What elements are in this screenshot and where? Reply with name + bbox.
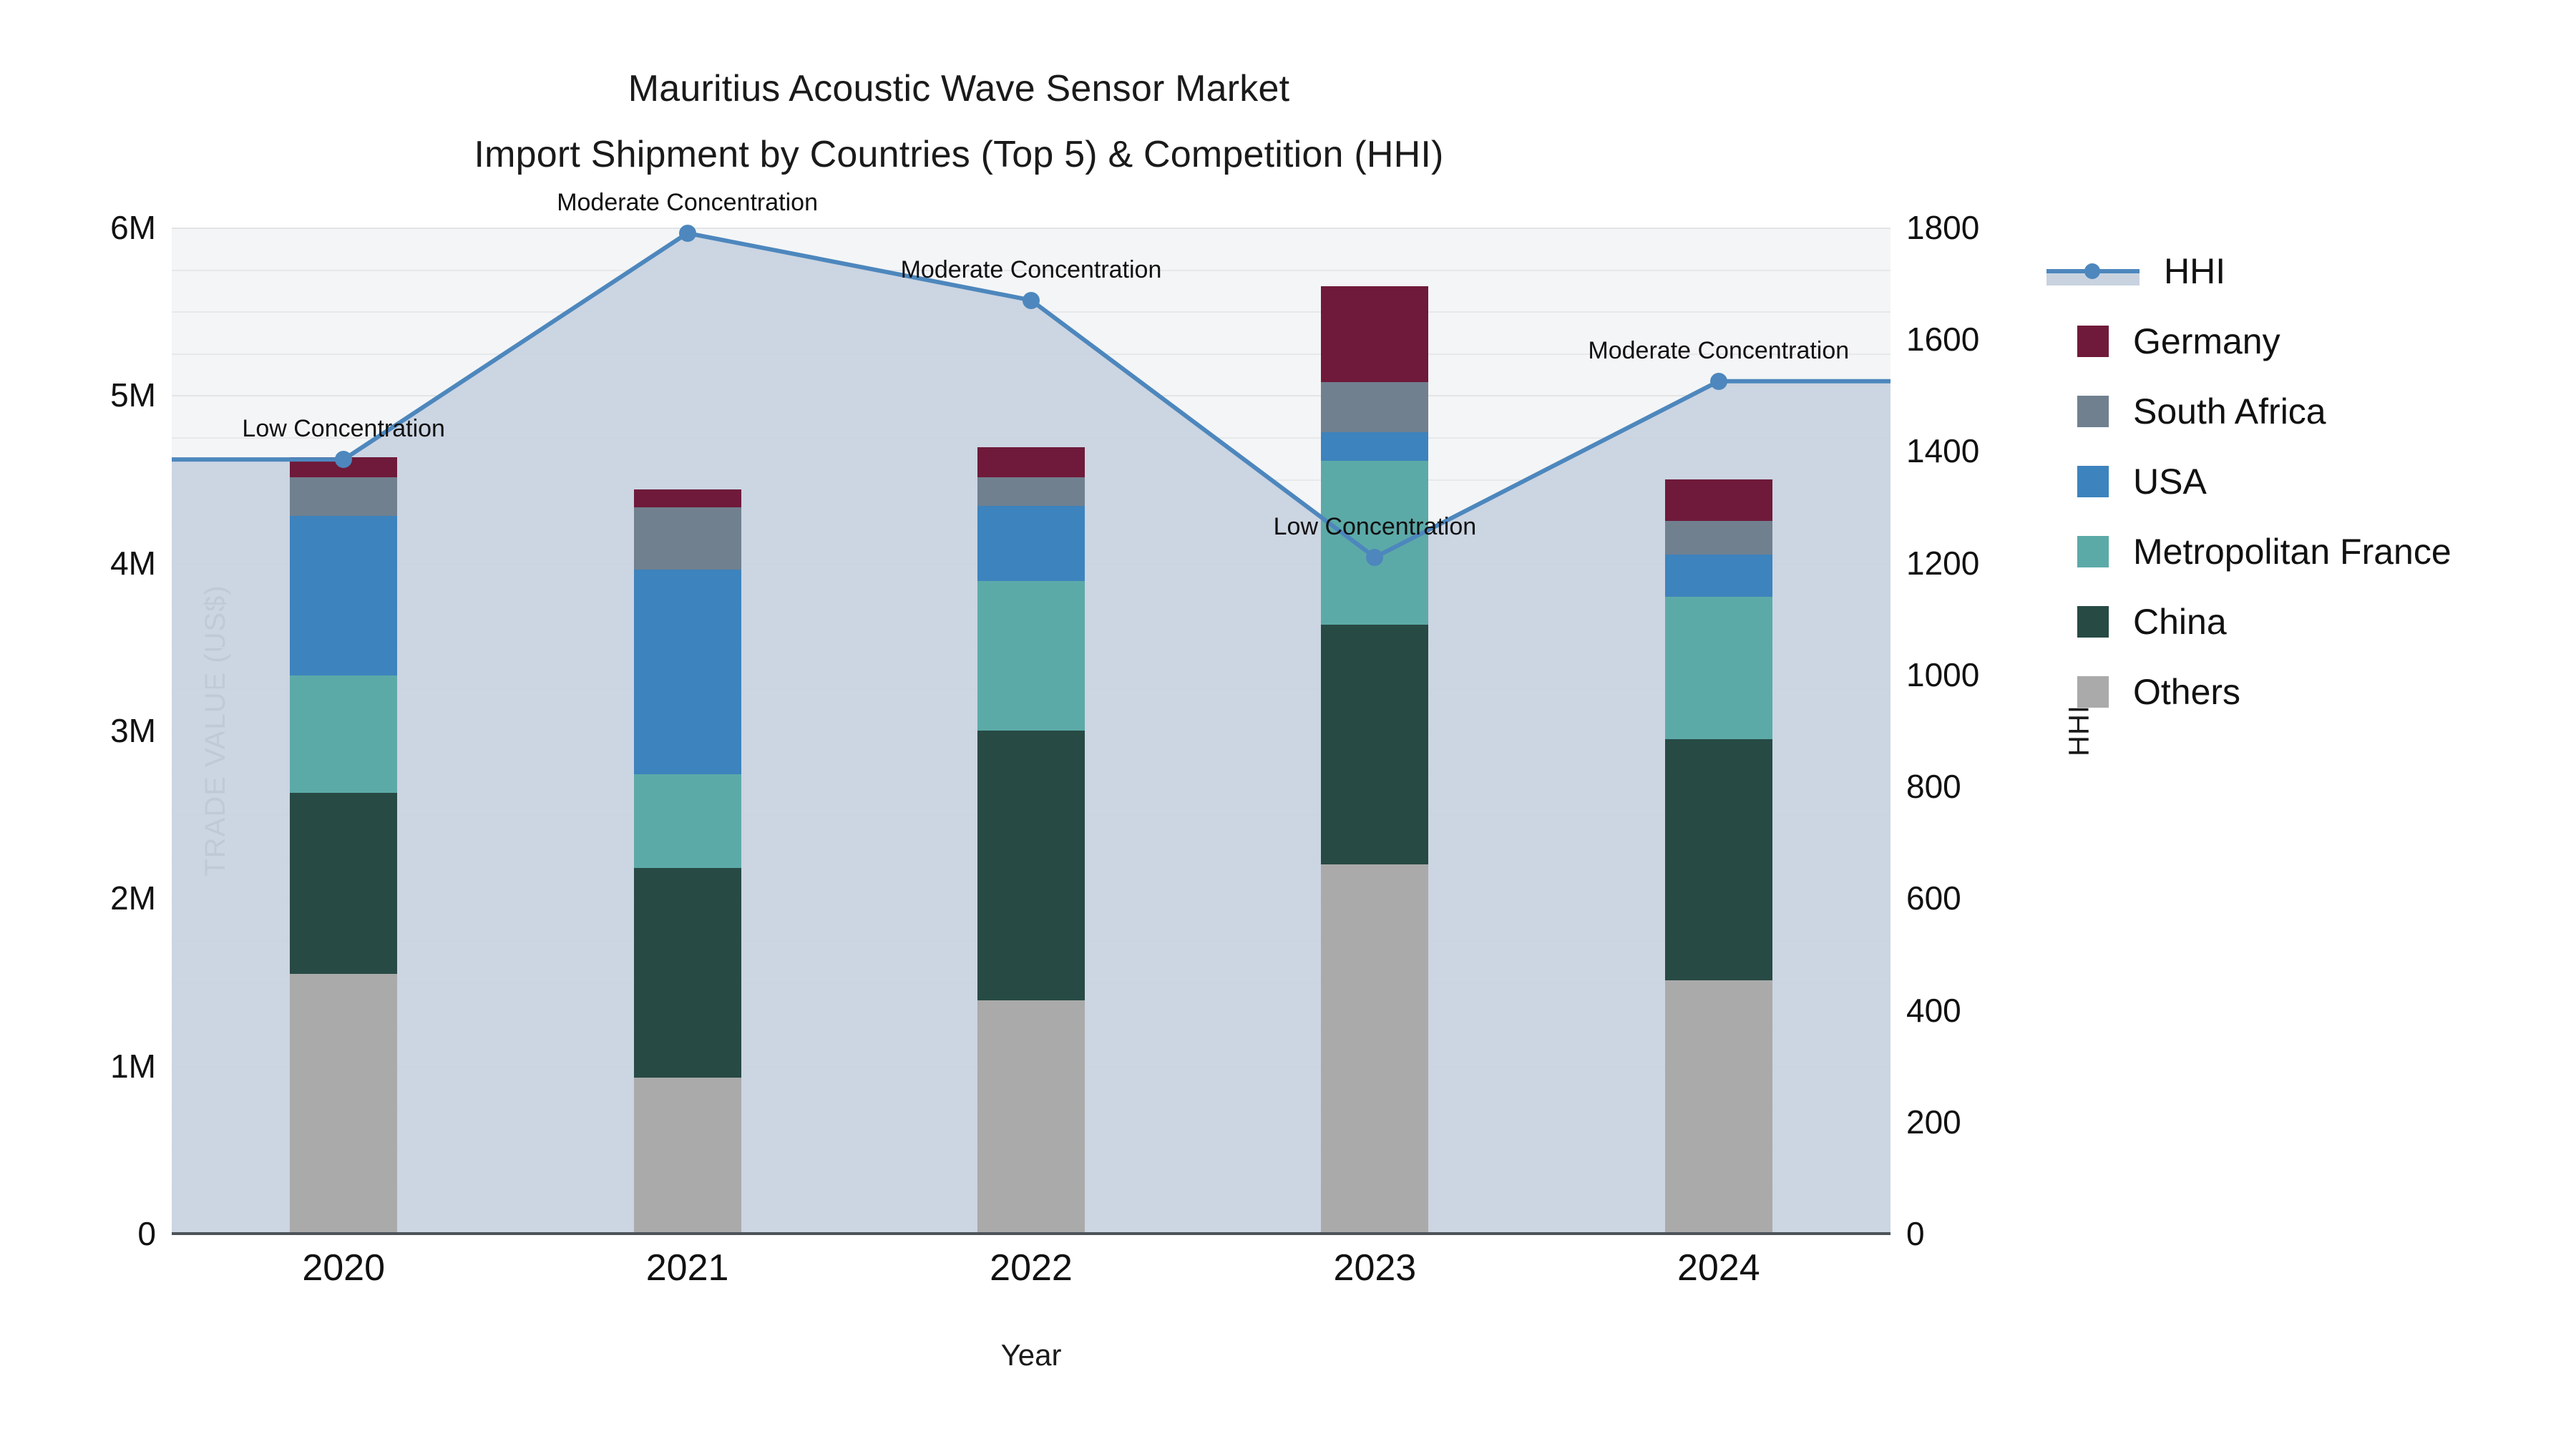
legend-label: South Africa: [2133, 391, 2326, 432]
y-tick-left-6M: 6M: [110, 208, 156, 247]
y-tick-right-1400: 1400: [1906, 431, 1979, 470]
hhi-annotation-2024: Moderate Concentration: [1588, 337, 1849, 365]
hhi-marker-2022[interactable]: [1023, 292, 1040, 309]
legend-label: USA: [2133, 461, 2207, 502]
x-tick-2024: 2024: [1677, 1246, 1760, 1289]
hhi-line-layer: [172, 228, 1890, 1234]
legend-line-marker-icon: [2046, 255, 2140, 287]
y-tick-right-400: 400: [1906, 991, 1961, 1030]
x-axis-label: Year: [172, 1338, 1890, 1372]
y-tick-left-3M: 3M: [110, 711, 156, 750]
legend-label: China: [2133, 601, 2227, 643]
chart-title-line-2: Import Shipment by Countries (Top 5) & C…: [0, 122, 1918, 187]
y-tick-right-800: 800: [1906, 767, 1961, 806]
y-tick-right-0: 0: [1906, 1214, 1925, 1253]
legend-item-china[interactable]: China: [2046, 587, 2547, 657]
y-tick-right-200: 200: [1906, 1103, 1961, 1141]
hhi-annotation-2023: Low Concentration: [1274, 513, 1477, 541]
hhi-marker-2021[interactable]: [679, 225, 696, 242]
x-tick-2022: 2022: [990, 1246, 1073, 1289]
legend-item-metropolitan-france[interactable]: Metropolitan France: [2046, 517, 2547, 587]
legend-label: HHI: [2164, 250, 2225, 292]
x-tick-2021: 2021: [646, 1246, 729, 1289]
y-tick-left-0: 0: [137, 1214, 156, 1253]
plot-area: TRADE VALUE (US$) HHI 01M2M3M4M5M6M02004…: [172, 228, 1890, 1234]
chart-title: Mauritius Acoustic Wave Sensor Market Im…: [0, 56, 1918, 187]
hhi-annotation-2022: Moderate Concentration: [901, 256, 1162, 284]
y-tick-left-5M: 5M: [110, 376, 156, 414]
y-tick-right-1600: 1600: [1906, 320, 1979, 358]
legend-swatch-icon: [2077, 676, 2109, 708]
chart-legend: HHIGermanySouth AfricaUSAMetropolitan Fr…: [2046, 236, 2547, 727]
legend-label: Others: [2133, 671, 2240, 713]
legend-label: Metropolitan France: [2133, 531, 2451, 572]
legend-swatch-icon: [2077, 536, 2109, 567]
x-tick-2023: 2023: [1334, 1246, 1417, 1289]
legend-label: Germany: [2133, 321, 2280, 362]
y-tick-right-1000: 1000: [1906, 655, 1979, 694]
legend-item-usa[interactable]: USA: [2046, 447, 2547, 517]
legend-item-hhi[interactable]: HHI: [2046, 236, 2547, 306]
chart-title-line-1: Mauritius Acoustic Wave Sensor Market: [0, 56, 1918, 122]
y-tick-right-1200: 1200: [1906, 544, 1979, 582]
legend-swatch-icon: [2077, 326, 2109, 357]
y-tick-left-1M: 1M: [110, 1047, 156, 1085]
hhi-annotation-2021: Moderate Concentration: [557, 189, 818, 217]
legend-item-germany[interactable]: Germany: [2046, 306, 2547, 376]
y-tick-left-4M: 4M: [110, 544, 156, 582]
legend-swatch-icon: [2077, 466, 2109, 497]
legend-point-marker-icon: [2084, 263, 2100, 279]
legend-swatch-icon: [2077, 606, 2109, 638]
y-tick-right-600: 600: [1906, 879, 1961, 917]
hhi-annotation-2020: Low Concentration: [242, 415, 445, 443]
x-tick-2020: 2020: [302, 1246, 385, 1289]
legend-swatch-icon: [2077, 396, 2109, 427]
y-tick-left-2M: 2M: [110, 879, 156, 917]
chart-root: Mauritius Acoustic Wave Sensor Market Im…: [0, 0, 2576, 1449]
hhi-marker-2024[interactable]: [1710, 373, 1727, 390]
legend-item-south-africa[interactable]: South Africa: [2046, 376, 2547, 447]
y-tick-right-1800: 1800: [1906, 208, 1979, 247]
legend-item-others[interactable]: Others: [2046, 657, 2547, 727]
